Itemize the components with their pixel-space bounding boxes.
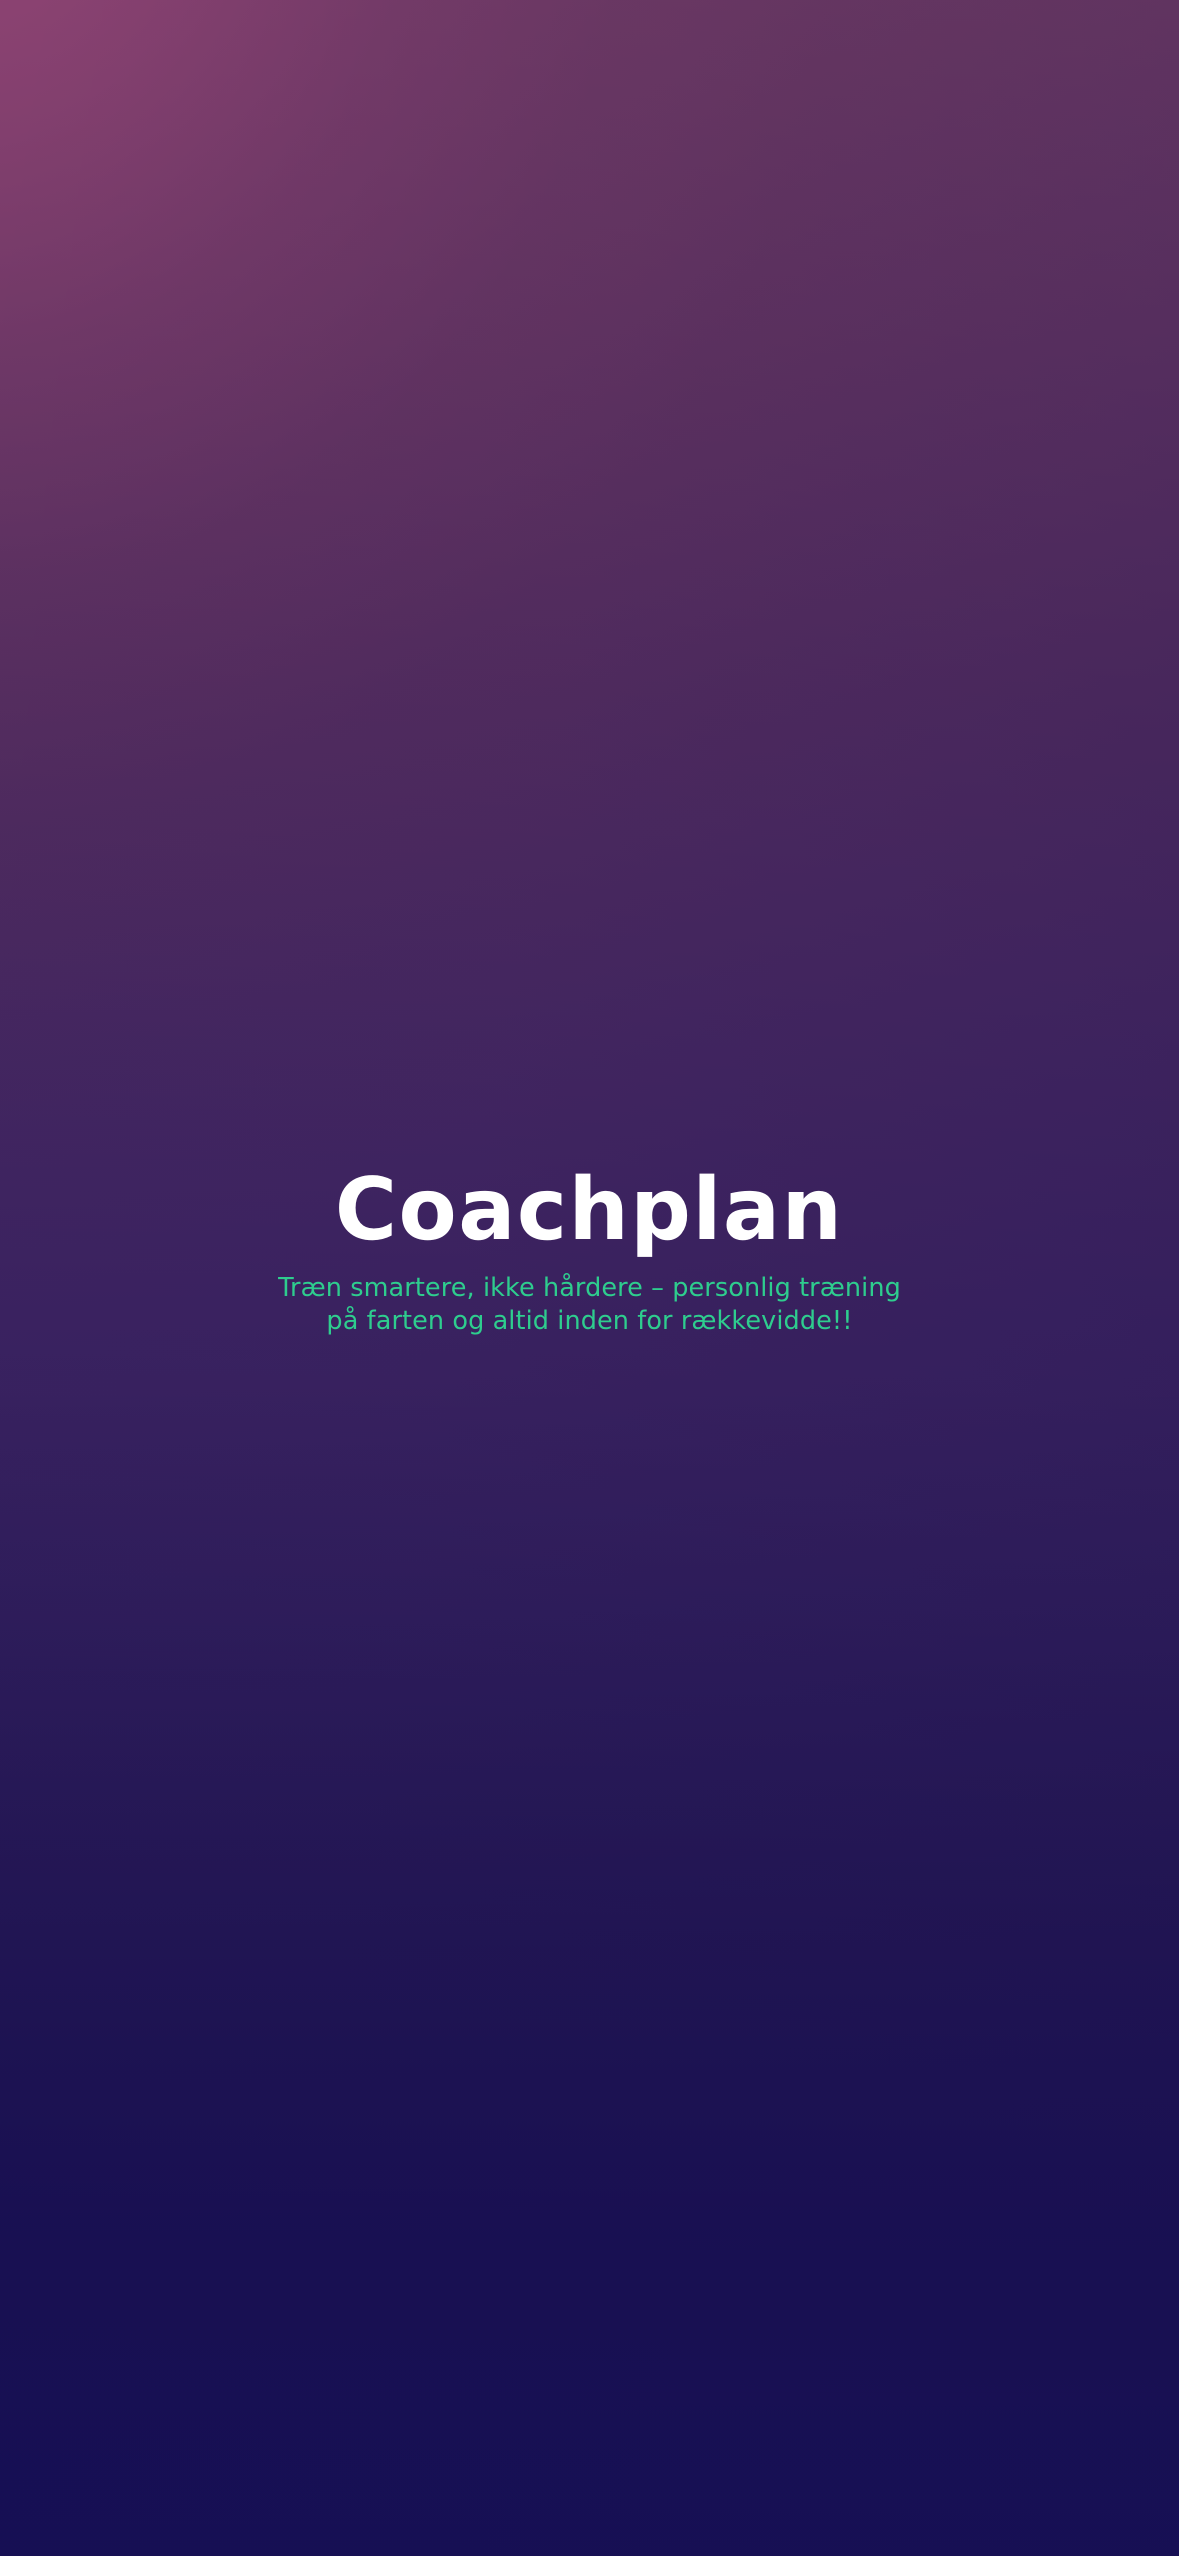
app-tagline: Træn smartere, ikke hårdere – personlig … <box>278 1272 901 1338</box>
app-tagline-line-2: på farten og altid inden for rækkevidde!… <box>278 1305 901 1338</box>
splash-screen: Coachplan Træn smartere, ikke hårdere – … <box>0 0 1179 2556</box>
brand-block: Coachplan Træn smartere, ikke hårdere – … <box>0 1158 1179 1338</box>
app-title: Coachplan <box>335 1158 843 1262</box>
app-tagline-line-1: Træn smartere, ikke hårdere – personlig … <box>278 1272 901 1305</box>
